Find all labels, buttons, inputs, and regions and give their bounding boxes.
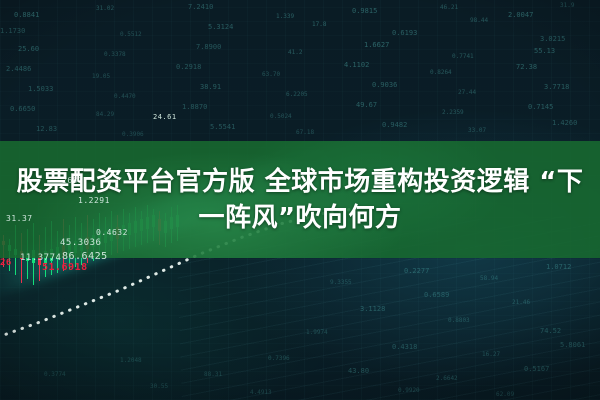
ticker-number: 3.7718 [544, 84, 569, 91]
ticker-number: 38.91 [200, 84, 221, 91]
ticker-number: 3.0215 [540, 36, 565, 43]
ticker-number: 5.3124 [208, 24, 233, 31]
ticker-number: 1.0712 [546, 264, 571, 271]
ticker-number: 0.6193 [392, 30, 417, 37]
ticker-number: 0.6589 [424, 292, 449, 299]
ticker-number: 2.0047 [508, 12, 533, 19]
ticker-number: 7.8900 [196, 44, 221, 51]
ticker-number: 6.2205 [286, 92, 308, 98]
ticker-number: 19.05 [92, 74, 110, 80]
ticker-number: 74.52 [540, 328, 561, 335]
ticker-number: 4.1102 [344, 62, 369, 69]
ticker-number: 0.5024 [270, 114, 292, 120]
ticker-number: 0.9815 [352, 8, 377, 15]
ticker-number: 0.6650 [10, 106, 35, 113]
ticker-number: 0.9482 [382, 122, 407, 129]
ticker-number: 58.94 [480, 276, 498, 282]
ticker-number: 0.8264 [430, 70, 452, 76]
headline-line-1: 股票配资平台官方版 全球市场重构投资逻辑 “下 [17, 165, 584, 199]
ticker-number: 0.4470 [114, 94, 136, 100]
ticker-number: 2.2359 [442, 110, 464, 116]
ticker-number: 98.44 [470, 18, 488, 24]
headline-line-2: 一阵风”吹向何方 [198, 201, 401, 235]
headline-block: 股票配资平台官方版 全球市场重构投资逻辑 “下 一阵风”吹向何方 [0, 141, 600, 258]
ticker-number: 2.6642 [436, 376, 458, 382]
ticker-number: 5.8061 [560, 342, 585, 349]
ticker-number: 63.70 [262, 72, 280, 78]
ticker-number: 27.44 [458, 90, 476, 96]
ticker-number: 84.29 [96, 112, 114, 118]
ticker-number: 72.38 [516, 64, 537, 71]
ticker-number: 1.339 [276, 14, 294, 20]
banner-image: 0.884131.027.24101.3390.981546.212.00473… [0, 0, 600, 400]
ticker-number: 41.2 [288, 50, 302, 56]
ticker-number: 0.3378 [104, 52, 126, 58]
ticker-number: 0.5167 [524, 366, 549, 373]
ticker-number: 0.8803 [448, 318, 470, 324]
ticker-number: 1.1730 [0, 28, 25, 35]
ticker-number: 25.60 [18, 46, 39, 53]
ticker-number: 0.5512 [120, 32, 142, 38]
price-readout: 24.61 [153, 113, 177, 121]
ticker-number: 31.02 [96, 6, 114, 12]
ticker-number: 2.4486 [6, 66, 31, 73]
ticker-number: 0.9036 [372, 82, 397, 89]
ticker-number: 1.8870 [182, 104, 207, 111]
ticker-number: 0.3906 [122, 132, 144, 138]
ticker-number: 31.9 [560, 3, 574, 9]
ticker-number: 0.8841 [14, 12, 39, 19]
price-readout: 51.6918 [42, 262, 88, 273]
ticker-number: 5.5541 [210, 124, 235, 131]
ticker-number: 0.2918 [176, 64, 201, 71]
ticker-number: 16.27 [482, 352, 500, 358]
ticker-number: 0.7145 [528, 104, 553, 111]
ticker-number: 0.7741 [452, 54, 474, 60]
price-readout: 26 [0, 258, 12, 268]
ticker-number: 67.18 [296, 130, 314, 136]
ticker-number: 1.5033 [28, 86, 53, 93]
ticker-number: 21.46 [512, 300, 530, 306]
ticker-number: 49.67 [356, 102, 377, 109]
ticker-number: 12.83 [36, 126, 57, 133]
ticker-number: 17.8 [312, 22, 326, 28]
ticker-number: 46.21 [440, 5, 458, 11]
ticker-number: 55.13 [534, 48, 555, 55]
ticker-number: 33.07 [468, 128, 486, 134]
ticker-number: 7.2410 [188, 4, 213, 11]
ticker-number: 1.4260 [552, 120, 577, 127]
ticker-number: 62.09 [496, 392, 514, 398]
ticker-number: 1.6627 [364, 42, 389, 49]
